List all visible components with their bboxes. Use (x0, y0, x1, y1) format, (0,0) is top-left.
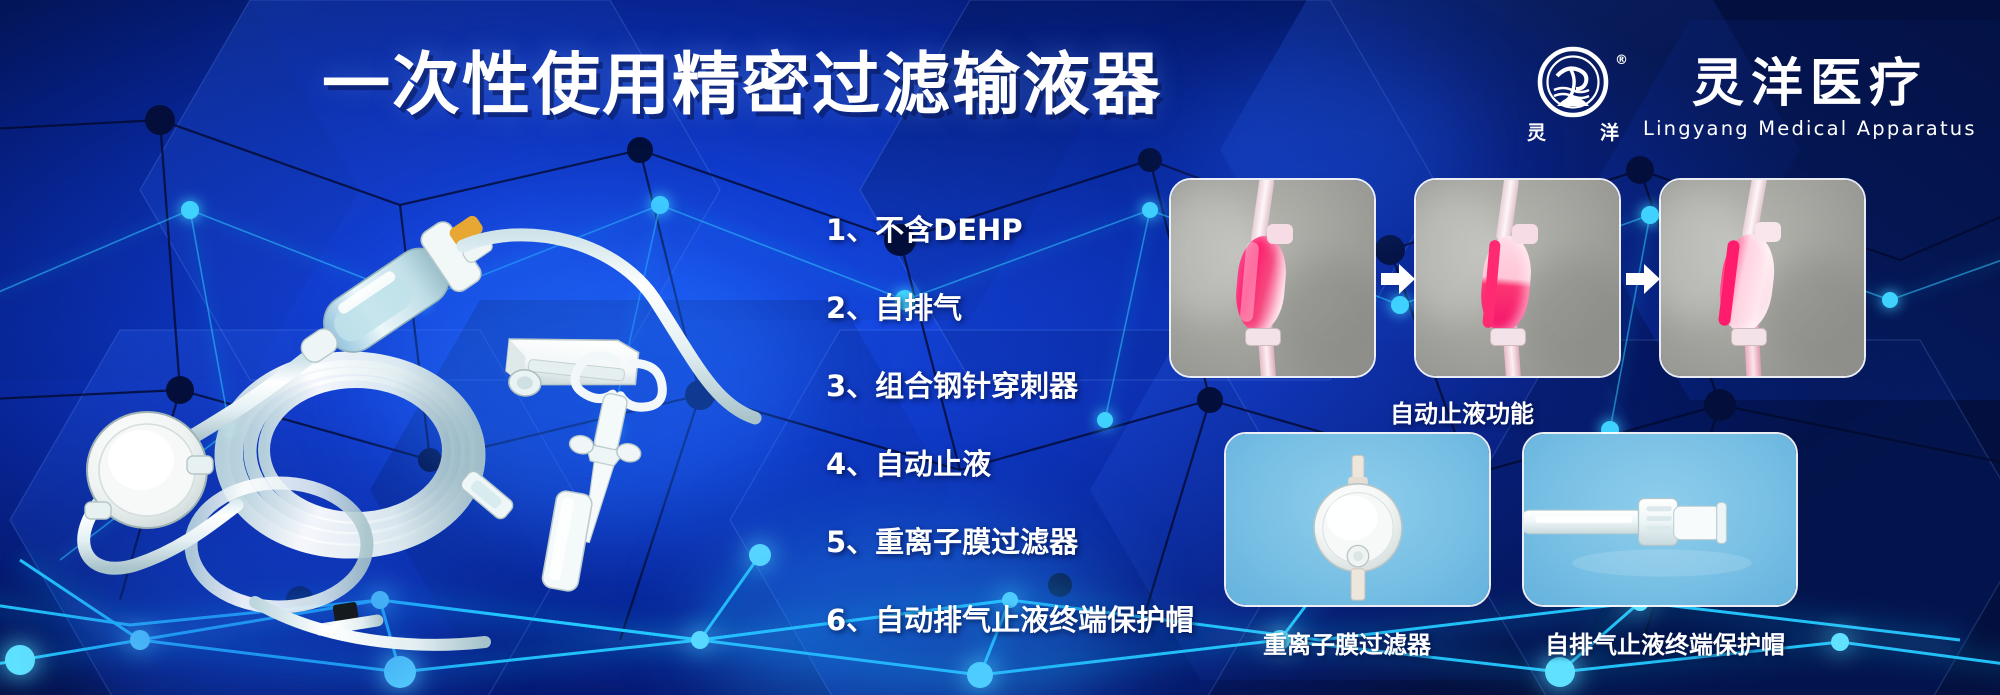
feature-item-2: 2、自排气 (826, 294, 1194, 323)
page-title: 一次性使用精密过滤输液器 (322, 52, 1162, 120)
company-name-cn: 灵洋医疗 (1692, 56, 1928, 112)
hero-product-image (55, 150, 795, 670)
lingyang-emblem-icon: ® 灵 洋 (1527, 46, 1627, 154)
demo-frame-1 (1169, 178, 1376, 378)
arrow-right-icon (1624, 262, 1662, 296)
arrow-right-icon (1379, 262, 1417, 296)
brand-logo: ® 灵 洋 灵洋医疗 Lingyang Medical Apparatus (1527, 46, 1977, 154)
emblem-right-char: 洋 (1600, 118, 1619, 145)
detail-caption-cap: 自排气止液终端保护帽 (1545, 625, 1785, 660)
feature-item-1: 1、不含DEHP (826, 216, 1194, 245)
detail-card-cap (1522, 432, 1798, 607)
feature-item-3: 3、组合钢针穿刺器 (826, 372, 1194, 401)
detail-card-filter (1224, 432, 1491, 607)
feature-item-5: 5、重离子膜过滤器 (826, 528, 1194, 557)
registered-trademark-icon: ® (1615, 53, 1628, 68)
banner-root: 一次性使用精密过滤输液器 ® 灵 洋 灵洋医疗 Lingyang Medical… (0, 0, 2000, 695)
feature-list: 1、不含DEHP 2、自排气 3、组合钢针穿刺器 4、自动止液 5、重离子膜过滤… (826, 216, 1194, 635)
company-name-en: Lingyang Medical Apparatus (1643, 117, 1977, 140)
feature-item-4: 4、自动止液 (826, 450, 1194, 479)
demo-frame-2 (1414, 178, 1621, 378)
demo-caption: 自动止液功能 (1390, 394, 1534, 429)
emblem-left-char: 灵 (1527, 118, 1546, 145)
detail-caption-filter: 重离子膜过滤器 (1263, 625, 1431, 660)
demo-frame-3 (1659, 178, 1866, 378)
feature-item-6: 6、自动排气止液终端保护帽 (826, 606, 1194, 635)
protective-cap-part (541, 490, 593, 593)
